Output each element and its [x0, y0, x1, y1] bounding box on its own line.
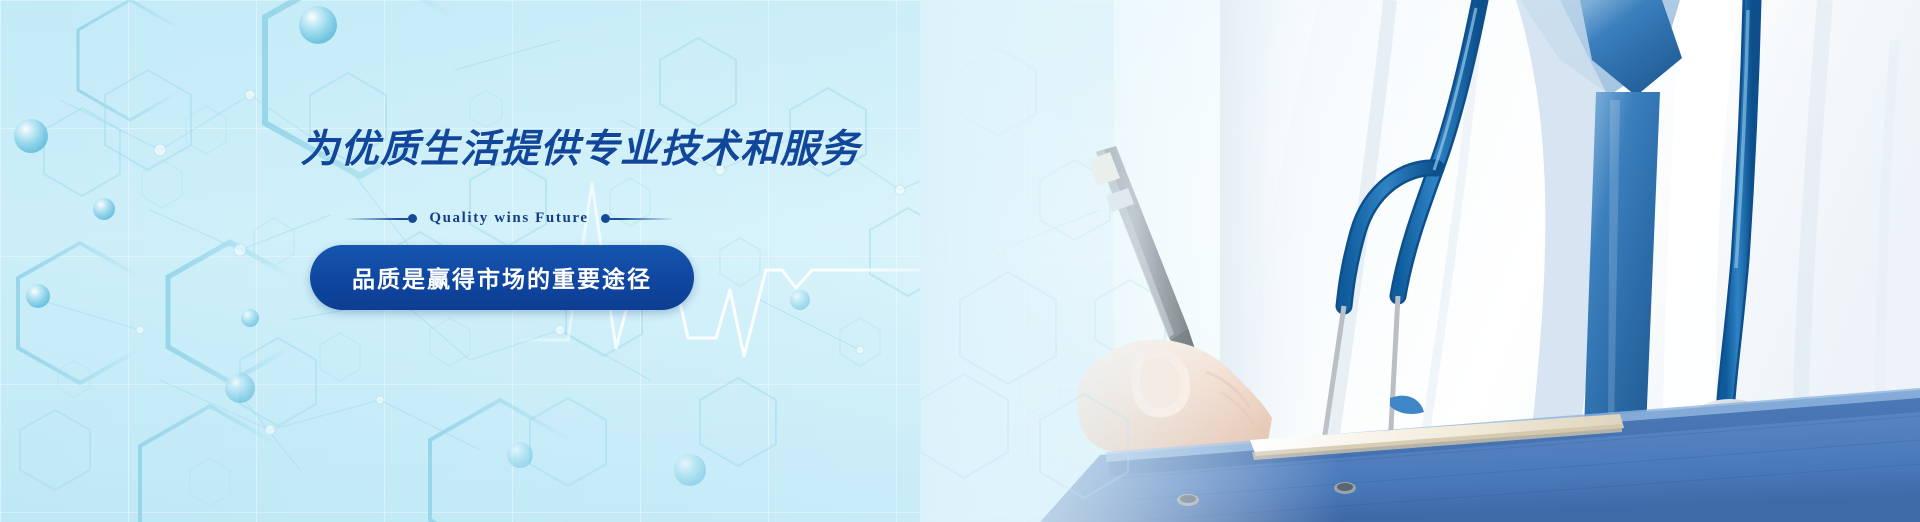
decorative-line-left [344, 218, 408, 220]
page-title: 为优质生活提供专业技术和服务 [300, 118, 1000, 174]
decorative-line-right [610, 218, 674, 220]
doctor-coat-photo [920, 0, 1920, 522]
decorative-dot-left [408, 214, 417, 223]
english-subtitle: Quality wins Future [417, 210, 600, 227]
cta-button[interactable]: 品质是赢得市场的重要途径 [310, 245, 694, 310]
subtitle-divider-row: Quality wins Future [344, 210, 674, 227]
decorative-dot-right [601, 214, 610, 223]
hero-banner: 为优质生活提供专业技术和服务 Quality wins Future 品质是赢得… [0, 0, 1920, 522]
banner-content: 为优质生活提供专业技术和服务 Quality wins Future 品质是赢得… [300, 118, 1000, 310]
